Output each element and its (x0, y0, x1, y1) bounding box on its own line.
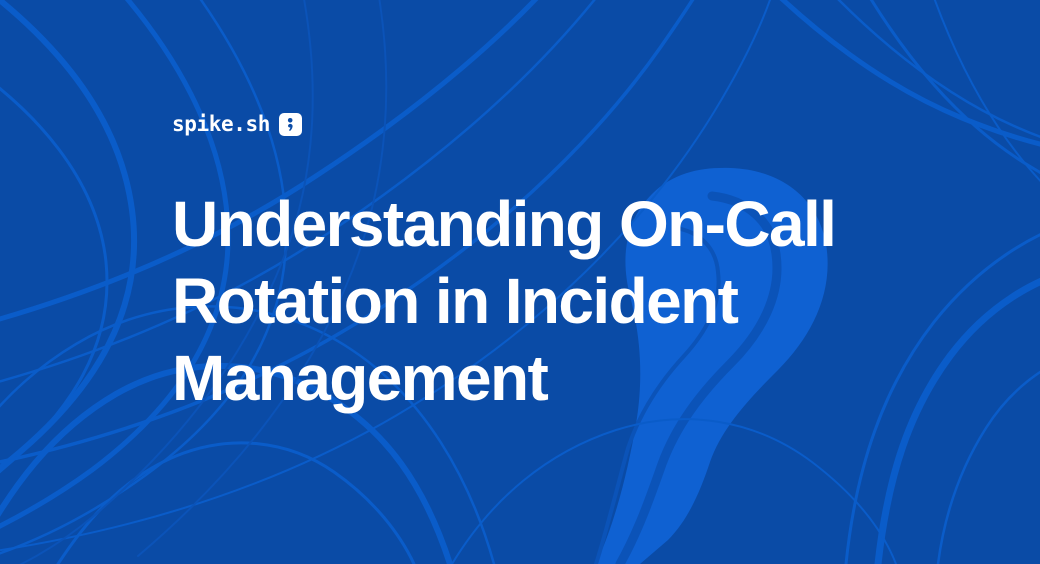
cover-content: spike.sh Understanding On-Call Rotation … (0, 0, 1040, 564)
semicolon-icon (279, 113, 302, 136)
brand-logo[interactable]: spike.sh (172, 109, 302, 139)
og-cover-card: spike.sh Understanding On-Call Rotation … (0, 0, 1040, 564)
page-title: Understanding On-Call Rotation in Incide… (172, 186, 932, 417)
brand-wordmark: spike.sh (172, 114, 270, 135)
